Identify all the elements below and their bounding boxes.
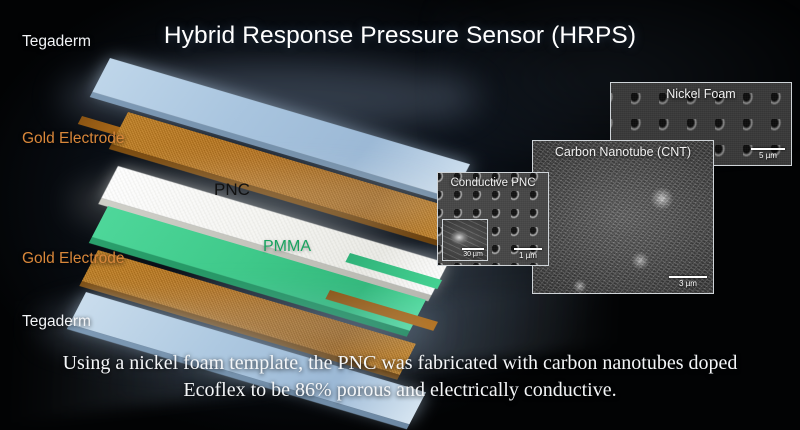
stack-label-gold-electrode-bottom: Gold Electrode [22,250,125,268]
scale-bar-nickel-foam: 5 µm [751,148,785,161]
scale-bar-label: 1 µm [514,251,542,260]
scale-bar-label: 3 µm [669,279,707,288]
sem-inset-conductive-pnc[interactable]: Conductive PNC 30 µm 1 µm [437,172,549,266]
figure-slide: Hybrid Response Pressure Sensor (HRPS) T… [0,0,800,430]
stack-label-pnc: PNC [214,180,250,200]
stack-label-tegaderm-bottom: Tegaderm [22,313,91,331]
scale-bar-conductive-pnc: 1 µm [514,248,542,261]
scale-bar-carbon-nanotube: 3 µm [669,276,707,289]
scale-bar-line [514,248,542,251]
stack-label-gold-electrode-top: Gold Electrode [22,130,125,148]
stack-label-pmma: PMMA [263,238,311,256]
sem-caption-carbon-nanotube: Carbon Nanotube (CNT) [533,145,713,159]
scale-bar-label: 30 µm [462,251,484,258]
figure-caption: Using a nickel foam template, the PNC wa… [30,350,770,404]
scale-bar-label: 5 µm [751,151,785,160]
sem-texture-cnt [532,140,714,294]
figure-title: Hybrid Response Pressure Sensor (HRPS) [160,22,640,50]
scale-bar-sub-inset: 30 µm [462,248,484,258]
scale-bar-line [751,148,785,151]
scale-bar-line [462,248,484,250]
scale-bar-line [669,276,707,279]
stack-label-tegaderm-top: Tegaderm [22,33,91,51]
sem-inset-carbon-nanotube[interactable]: Carbon Nanotube (CNT) 3 µm [532,140,714,294]
sem-caption-nickel-foam: Nickel Foam [611,87,791,101]
sem-sub-inset[interactable]: 30 µm [442,219,488,261]
sem-caption-conductive-pnc: Conductive PNC [438,177,548,189]
